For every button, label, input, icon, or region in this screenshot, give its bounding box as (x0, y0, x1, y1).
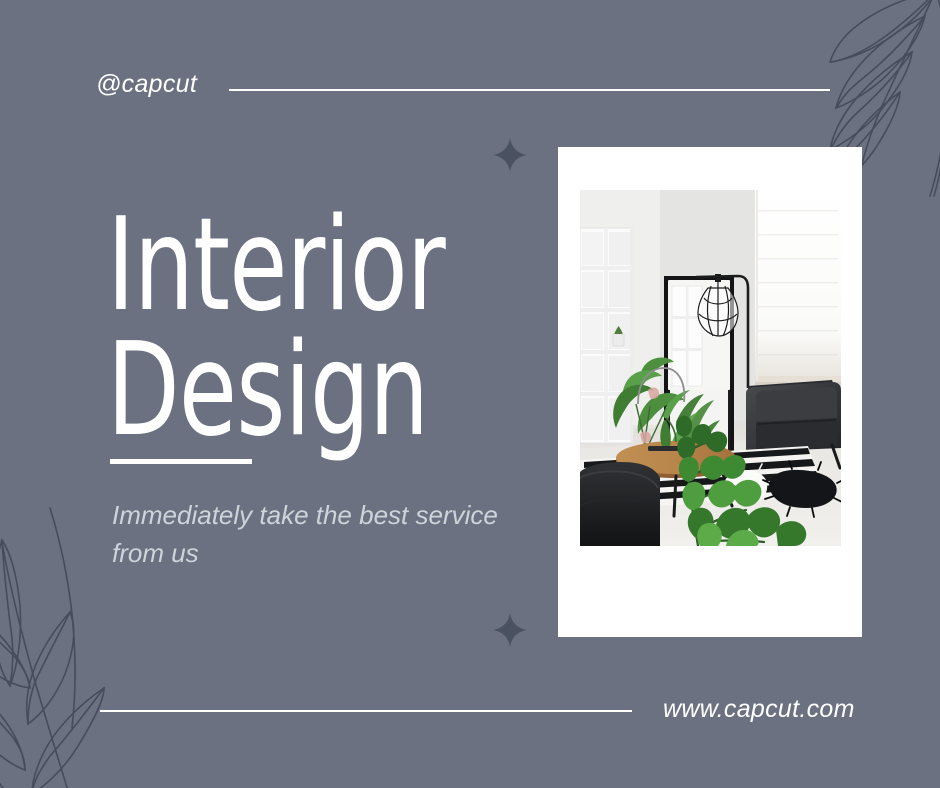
title-underline (110, 459, 252, 464)
account-handle: @capcut (96, 70, 197, 99)
photo-frame (558, 147, 862, 637)
tagline: Immediately take the best service from u… (112, 497, 512, 572)
website-url: www.capcut.com (663, 695, 855, 724)
title-line-2: Design (107, 328, 445, 453)
footer-divider (100, 710, 632, 712)
interior-photo (580, 190, 841, 546)
page-title: Interior Design (107, 203, 445, 454)
sparkle-icon (493, 613, 527, 647)
title-line-1: Interior (107, 203, 445, 328)
poster-canvas: @capcut Interior Design Immediately take… (0, 0, 940, 788)
header-divider (229, 89, 830, 91)
sparkle-icon (493, 138, 527, 172)
